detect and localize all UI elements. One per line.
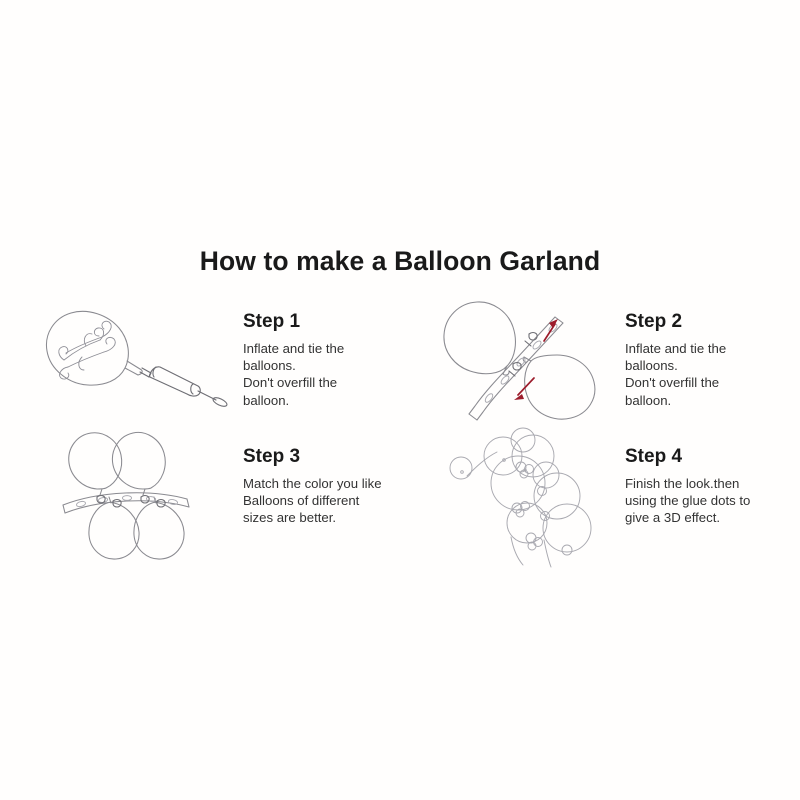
step-4-heading: Step 4 (625, 447, 750, 466)
step-2-heading: Step 2 (625, 312, 726, 331)
illustration-full-balloon-garland (445, 420, 620, 570)
step-3-text: Step 3 Match the color you like Balloons… (243, 447, 382, 527)
page-title: How to make a Balloon Garland (0, 246, 800, 277)
step-4-text: Step 4 Finish the look.then using the gl… (625, 447, 750, 527)
step-2-body: Inflate and tie the balloons. Don't over… (625, 340, 726, 409)
step-card-1: Step 1 Inflate and tie the balloons. Don… (30, 290, 410, 420)
illustration-balloon-with-hand-pump (30, 290, 230, 410)
step-1-body: Inflate and tie the balloons. Don't over… (243, 340, 344, 409)
infographic-page: How to make a Balloon Garland (0, 0, 800, 800)
illustration-two-balloons-on-strip (425, 290, 610, 425)
step-card-2: Step 2 Inflate and tie the balloons. Don… (425, 290, 795, 430)
step-card-3: Step 3 Match the color you like Balloons… (45, 425, 425, 570)
step-3-heading: Step 3 (243, 447, 382, 466)
step-4-body: Finish the look.then using the glue dots… (625, 475, 750, 527)
illustration-four-balloons-on-strip (45, 425, 230, 565)
step-1-text: Step 1 Inflate and tie the balloons. Don… (243, 312, 344, 409)
step-1-heading: Step 1 (243, 312, 344, 331)
step-3-body: Match the color you like Balloons of dif… (243, 475, 382, 527)
step-2-text: Step 2 Inflate and tie the balloons. Don… (625, 312, 726, 409)
step-card-4: Step 4 Finish the look.then using the gl… (445, 420, 795, 575)
